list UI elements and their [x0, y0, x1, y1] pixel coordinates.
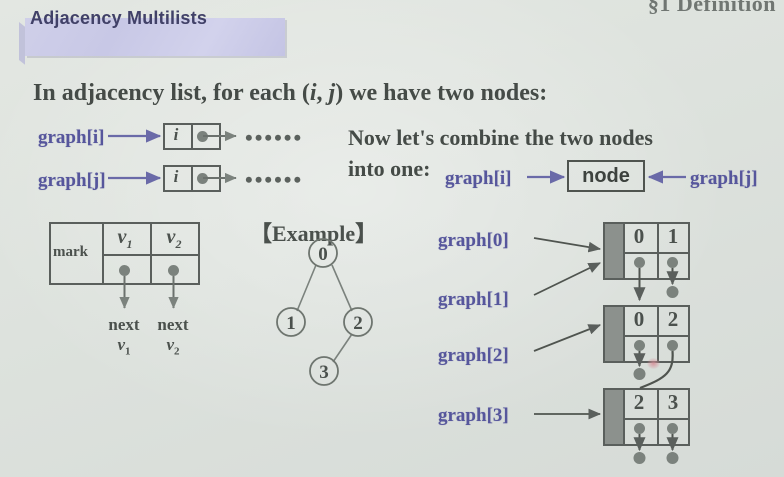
graph-node-0-label: 0	[318, 244, 328, 265]
graph-node-1-label: 1	[286, 313, 296, 334]
null-dot-node1-p2	[667, 286, 679, 298]
link-node2-p2-to-node3	[640, 351, 673, 388]
arrow-graph-2-to-node-2	[534, 325, 600, 351]
graph-edge-2-3	[333, 334, 352, 362]
null-dot-node3-p2	[667, 452, 679, 464]
diagram-connectors: 0 1 2 3	[0, 0, 784, 477]
arrow-graph-1-to-node-1	[534, 263, 600, 295]
null-dot-node3-p1	[634, 452, 646, 464]
graph-edge-0-2	[332, 265, 352, 311]
arrow-graph-0-to-node-1	[534, 238, 600, 249]
null-dot-node2-p1	[634, 368, 646, 380]
graph-edge-0-1	[297, 265, 316, 311]
graph-node-3-label: 3	[319, 362, 329, 383]
graph-node-2-label: 2	[353, 313, 363, 334]
